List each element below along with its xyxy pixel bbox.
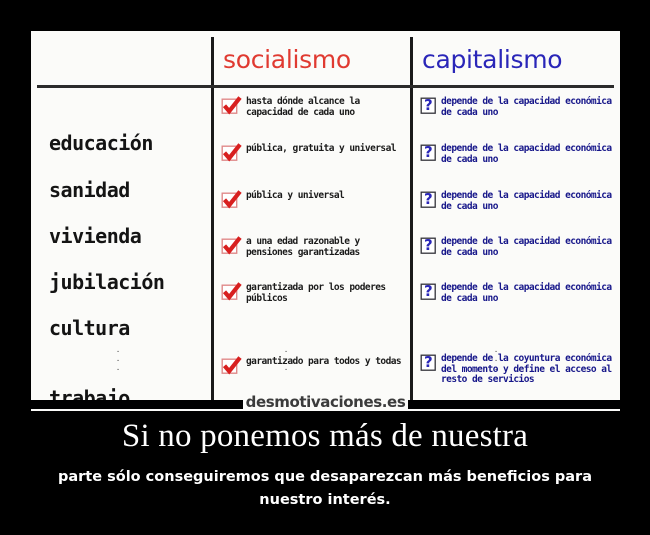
svg-text:?: ? [424, 190, 433, 208]
watermark-text: desmotivaciones.es [31, 393, 620, 411]
caption-title: Si no ponemos más de nuestra [0, 416, 650, 456]
cell-text: a una edad razonable y pensiones garanti… [246, 236, 407, 258]
row-label-jubilacion: jubilación [49, 270, 205, 294]
cell-socialismo-cultura: garantizada por los poderes públicos [221, 282, 407, 304]
check-icon [221, 190, 242, 209]
cell-socialismo-educacion: hasta dónde alcance la capacidad de cada… [221, 96, 407, 118]
cell-text: hasta dónde alcance la capacidad de cada… [246, 96, 407, 118]
cell-capitalismo-trabajo: ? depende de la coyuntura económica del … [420, 353, 616, 386]
demotivational-poster: socialismo capitalismo educación sanidad… [0, 0, 650, 535]
question-icon: ? [420, 143, 437, 162]
cell-capitalismo-cultura: ? depende de la capacidad económica de c… [420, 282, 616, 304]
check-icon [221, 236, 242, 255]
question-icon: ? [420, 236, 437, 255]
check-icon [221, 143, 242, 162]
row-label-vivienda: vivienda [49, 224, 205, 248]
row-label-sanidad: sanidad [49, 178, 205, 202]
check-icon [221, 96, 242, 115]
cell-socialismo-jubilacion: a una edad razonable y pensiones garanti… [221, 236, 407, 258]
question-icon: ? [420, 190, 437, 209]
cell-text: depende de la coyuntura económica del mo… [441, 353, 616, 386]
cell-socialismo-trabajo: garantizado para todos y todas [221, 356, 407, 375]
row-ellipsis-left: . . . [111, 346, 125, 373]
caption-subtitle: parte sólo conseguiremos que desaparezca… [0, 466, 650, 512]
svg-text:?: ? [424, 143, 433, 161]
header-underline [37, 85, 614, 88]
column-divider-2 [410, 37, 413, 405]
comparison-table: socialismo capitalismo educación sanidad… [31, 31, 620, 411]
caption: Si no ponemos más de nuestra parte sólo … [0, 416, 650, 512]
row-label-educacion: educación [49, 131, 205, 155]
cell-capitalismo-jubilacion: ? depende de la capacidad económica de c… [420, 236, 616, 258]
column-header-socialismo: socialismo [223, 45, 351, 75]
cell-text: pública, gratuita y universal [246, 143, 396, 155]
cell-capitalismo-educacion: ? depende de la capacidad económica de c… [420, 96, 616, 118]
cell-socialismo-vivienda: pública y universal [221, 190, 407, 209]
cell-text: depende de la capacidad económica de cad… [441, 143, 616, 165]
cell-text: depende de la capacidad económica de cad… [441, 282, 616, 304]
svg-text:?: ? [424, 282, 433, 300]
watermark: desmotivaciones.es [31, 387, 620, 413]
row-label-cultura: cultura [49, 316, 205, 340]
cell-socialismo-sanidad: pública, gratuita y universal [221, 143, 407, 162]
column-header-capitalismo: capitalismo [422, 45, 562, 75]
cell-capitalismo-sanidad: ? depende de la capacidad económica de c… [420, 143, 616, 165]
column-divider-1 [211, 37, 214, 405]
svg-text:?: ? [424, 353, 433, 371]
question-icon: ? [420, 353, 437, 372]
cell-text: garantizado para todos y todas [246, 356, 401, 368]
svg-text:?: ? [424, 96, 433, 114]
question-icon: ? [420, 282, 437, 301]
question-icon: ? [420, 96, 437, 115]
check-icon [221, 282, 242, 301]
cell-text: depende de la capacidad económica de cad… [441, 236, 616, 258]
cell-text: garantizada por los poderes públicos [246, 282, 407, 304]
cell-capitalismo-vivienda: ? depende de la capacidad económica de c… [420, 190, 616, 212]
comparison-table-image: socialismo capitalismo educación sanidad… [31, 31, 620, 411]
cell-text: depende de la capacidad económica de cad… [441, 190, 616, 212]
check-icon [221, 356, 242, 375]
cell-text: pública y universal [246, 190, 344, 202]
svg-text:?: ? [424, 236, 433, 254]
cell-text: depende de la capacidad económica de cad… [441, 96, 616, 118]
dot: . [111, 364, 125, 373]
